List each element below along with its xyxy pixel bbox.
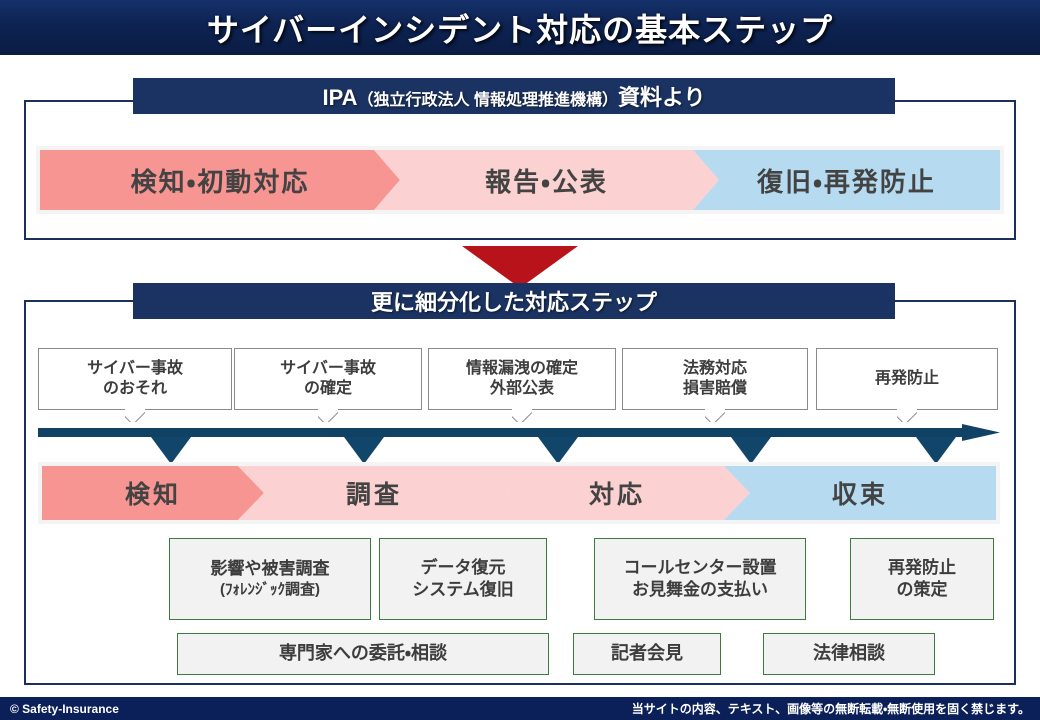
action-line-2: の策定 (897, 579, 948, 601)
ipa-banner-tail: 資料より (618, 85, 706, 110)
page-footer: © Safety-Insurance 当サイトの内容、テキスト、画像等の無断転載… (0, 697, 1040, 720)
chevron-label: 収束 (832, 475, 888, 511)
chevron-label: 復旧・再発防止 (757, 162, 936, 199)
steps-banner: 更に細分化した対応ステップ (133, 283, 895, 319)
action-line-1: 専門家への委託・相談 (279, 642, 447, 666)
action-box: コールセンター設置 お見舞金の支払い (594, 538, 806, 620)
callout-tail-icon (897, 409, 917, 422)
event-line-2: のおそれ (103, 379, 167, 399)
event-box: 法務対応 損害賠償 (622, 348, 808, 410)
action-line-1: データ復元 (421, 557, 506, 579)
event-line-1: 再発防止 (875, 369, 939, 389)
chevron-segment-report-disclosure: 報告・公表 (374, 150, 719, 210)
action-line-1: コールセンター設置 (624, 557, 777, 579)
chevron-label: 報告・公表 (485, 162, 608, 199)
action-line-1: 影響や被害調査 (211, 558, 330, 580)
page-header: サイバーインシデント対応の基本ステップ (0, 0, 1040, 55)
timeline-marker-icon (151, 437, 191, 464)
callout-tail-icon (125, 409, 145, 422)
event-box: サイバー事故 のおそれ (38, 348, 232, 410)
timeline-axis (38, 424, 1000, 464)
down-arrow-icon (462, 246, 578, 288)
timeline-arrowhead-icon (962, 424, 1000, 441)
action-box: 記者会見 (573, 633, 721, 675)
event-line-1: サイバー事故 (280, 359, 376, 379)
chevron-label: 検知・初動対応 (131, 162, 310, 199)
event-line-1: サイバー事故 (87, 359, 183, 379)
chevron-segment-response: 対応 (484, 466, 750, 520)
steps-banner-text: 更に細分化した対応ステップ (371, 285, 657, 317)
chevron-segment-resolution: 収束 (724, 466, 996, 520)
action-box: 再発防止 の策定 (850, 538, 994, 620)
action-line-1: 法律相談 (813, 642, 885, 666)
action-box: 専門家への委託・相談 (177, 633, 549, 675)
event-box: サイバー事故 の確定 (234, 348, 422, 410)
event-line-2: 損害賠償 (683, 379, 747, 399)
action-line-2: システム復旧 (412, 579, 514, 601)
callout-tail-icon (512, 409, 532, 422)
timeline-marker-icon (916, 437, 956, 464)
ipa-banner-text: IPA（独立行政法人 情報処理推進機構）資料より (322, 80, 705, 112)
chevron-segment-recovery-prevention: 復旧・再発防止 (693, 150, 1000, 210)
timeline-marker-icon (538, 437, 578, 464)
timeline-marker-icon (731, 437, 771, 464)
callout-tail-icon (318, 409, 338, 422)
chevron-segment-investigation: 調査 (238, 466, 510, 520)
page-title: サイバーインシデント対応の基本ステップ (207, 5, 833, 51)
ipa-chevron-flow: 検知・初動対応 報告・公表 復旧・再発防止 (36, 146, 1004, 214)
ipa-banner: IPA（独立行政法人 情報処理推進機構）資料より (133, 78, 895, 114)
event-box: 再発防止 (816, 348, 998, 410)
event-line-2: 外部公表 (490, 379, 554, 399)
callout-tail-icon (705, 409, 725, 422)
event-box: 情報漏洩の確定 外部公表 (428, 348, 616, 410)
action-box: 影響や被害調査 (ﾌｫﾚﾝｼﾞｯｸ調査) (169, 538, 371, 620)
action-line-1: 再発防止 (888, 557, 956, 579)
event-line-1: 法務対応 (683, 359, 747, 379)
timeline-bar (38, 428, 968, 437)
action-line-2: (ﾌｫﾚﾝｼﾞｯｸ調査) (220, 580, 320, 600)
action-line-2: お見舞金の支払い (632, 579, 768, 601)
usage-notice-text: 当サイトの内容、テキスト、画像等の無断転載・無断使用を固く禁じます。 (632, 700, 1030, 717)
action-line-1: 記者会見 (611, 642, 683, 666)
copyright-text: © Safety-Insurance (10, 702, 119, 716)
chevron-label: 検知 (125, 475, 181, 511)
action-box: 法律相談 (763, 633, 935, 675)
chevron-segment-detection: 検知 (42, 466, 264, 520)
event-line-1: 情報漏洩の確定 (466, 359, 578, 379)
ipa-banner-sub: （独立行政法人 情報処理推進機構） (358, 92, 618, 109)
chevron-label: 調査 (346, 475, 402, 511)
chevron-segment-detection-initial: 検知・初動対応 (40, 150, 400, 210)
steps-chevron-flow: 検知 調査 対応 収束 (38, 462, 1000, 524)
action-box: データ復元 システム復旧 (379, 538, 547, 620)
chevron-label: 対応 (589, 475, 645, 511)
ipa-banner-main: IPA (322, 85, 357, 110)
event-line-2: の確定 (304, 379, 352, 399)
timeline-marker-icon (344, 437, 384, 464)
